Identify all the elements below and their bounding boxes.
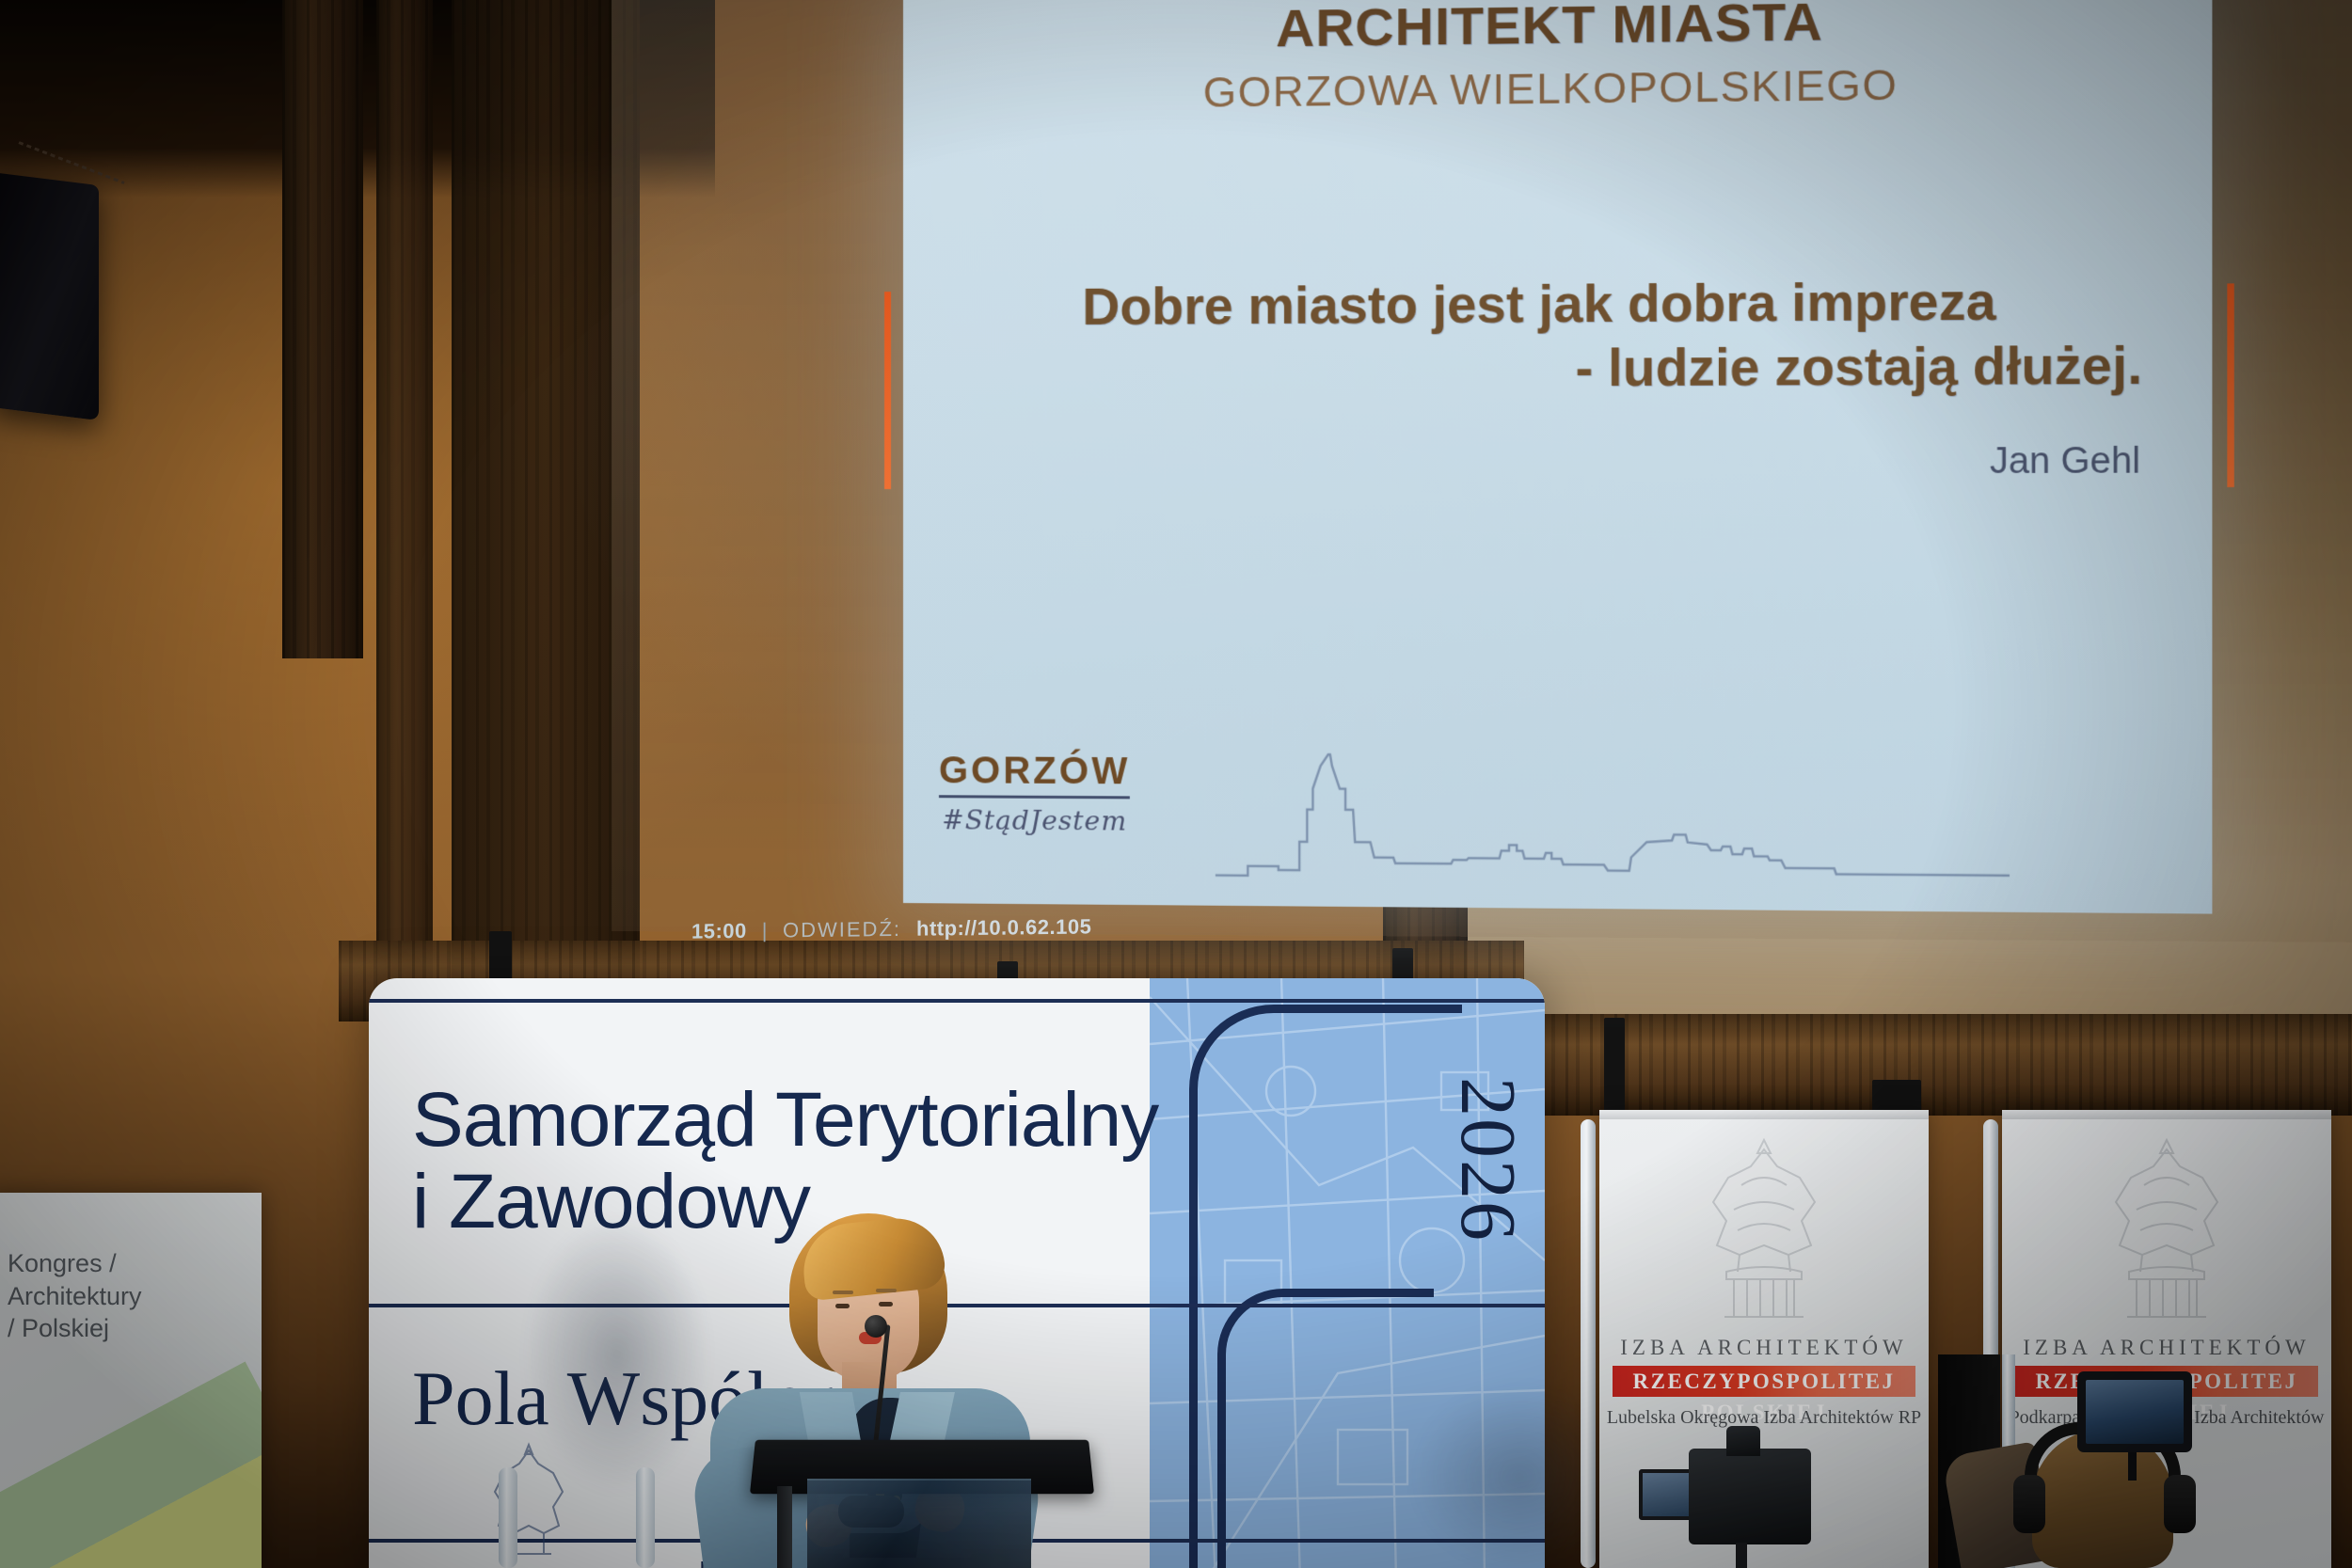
- rollup-title-line-1: IZBA ARCHITEKTÓW: [1599, 1336, 1929, 1360]
- status-visit-label: ODWIEDŹ:: [783, 917, 901, 943]
- kap-color-band: [0, 1362, 262, 1568]
- headphone-cup-right: [2164, 1475, 2196, 1533]
- quote-author: Jan Gehl: [943, 441, 2170, 484]
- rollup-chapter: Lubelska Okręgowa Izba Architektów RP: [1599, 1407, 1929, 1429]
- speaker-eye-right: [879, 1302, 893, 1307]
- lectern-leg: [777, 1486, 792, 1568]
- lectern-glass-front: [807, 1479, 1031, 1568]
- banner-heading-line-1: Samorząd Terytorialny: [412, 1080, 1184, 1162]
- speaker-shadow: [523, 1213, 711, 1496]
- polish-eagle-icon: [2082, 1129, 2251, 1326]
- banner-year-2026: 2026: [1442, 1077, 1534, 1243]
- speaker-brow-right: [876, 1289, 897, 1292]
- rollup-title-line-1: IZBA ARCHITEKTÓW: [2002, 1336, 2331, 1360]
- speaker-hair-fringe: [799, 1213, 946, 1301]
- quote-accent-bar-left: [884, 292, 891, 489]
- quote-line-1: Dobre miasto jest jak dobra impreza: [943, 268, 2170, 340]
- decorative-candle: [636, 1467, 655, 1568]
- status-separator: |: [762, 919, 768, 943]
- screenshot-root: ARCHITEKT MIASTA GORZOWA WIELKOPOLSKIEGO…: [0, 0, 2352, 1568]
- microphone-head-icon: [865, 1315, 887, 1338]
- decorative-candle: [499, 1467, 517, 1568]
- rollup-top-rail: [2002, 1110, 2331, 1119]
- wooden-beam-vertical: [282, 0, 363, 658]
- rollup-pole: [1581, 1119, 1596, 1568]
- speaker-eye-left: [835, 1304, 850, 1308]
- slide-title: ARCHITEKT MIASTA: [903, 0, 2212, 63]
- speaker-brow-left: [833, 1291, 853, 1294]
- quote-accent-bar-right: [2227, 283, 2233, 487]
- kap-line-3: / Polskiej: [8, 1312, 142, 1345]
- beam-bracket: [1604, 1018, 1625, 1119]
- slide-quote-block: Dobre miasto jest jak dobra impreza - lu…: [903, 268, 2212, 484]
- camera-tripod-leg: [1736, 1543, 1747, 1568]
- gorzow-logo-word: GORZÓW: [939, 750, 1130, 799]
- rollup-title-line-2: RZECZYPOSPOLITEJ POLSKIEJ: [1613, 1366, 1915, 1397]
- banner-rule-top: [369, 999, 1545, 1003]
- rollup-top-rail: [1599, 1110, 1929, 1119]
- quote-line-2: - ludzie zostają dłużej.: [943, 333, 2170, 403]
- kap-line-1: Kongres /: [8, 1247, 142, 1280]
- city-skyline-icon: [1216, 751, 2011, 890]
- rollup-kongres-architektury-polskiej: Kongres / Architektury / Polskiej: [0, 1193, 262, 1568]
- kap-text-block: Kongres / Architektury / Polskiej: [8, 1247, 142, 1345]
- presentation-slide: ARCHITEKT MIASTA GORZOWA WIELKOPOLSKIEGO…: [903, 0, 2212, 914]
- video-camera: [1689, 1449, 1811, 1544]
- banner-arc-inner: [1217, 1289, 1434, 1568]
- projector-status-bar: 15:00 | ODWIEDŹ: http://10.0.62.105: [691, 914, 1091, 943]
- field-monitor-screen: [2086, 1380, 2184, 1444]
- kap-line-2: Architektury: [8, 1280, 142, 1313]
- polish-eagle-icon: [1679, 1129, 1849, 1326]
- wooden-beam-vertical: [376, 0, 433, 1035]
- field-monitor: [2077, 1371, 2192, 1452]
- headphone-cup-left: [2013, 1475, 2045, 1533]
- ceiling-speaker-box: [0, 172, 99, 420]
- status-time: 15:00: [691, 919, 747, 944]
- status-url: http://10.0.62.105: [916, 914, 1091, 941]
- slide-subtitle: GORZOWA WIELKOPOLSKIEGO: [903, 56, 2212, 120]
- camera-top-knob: [1726, 1426, 1760, 1456]
- gorzow-logo: GORZÓW #StądJestem: [939, 750, 1130, 836]
- gorzow-logo-tagline: #StądJestem: [939, 804, 1130, 836]
